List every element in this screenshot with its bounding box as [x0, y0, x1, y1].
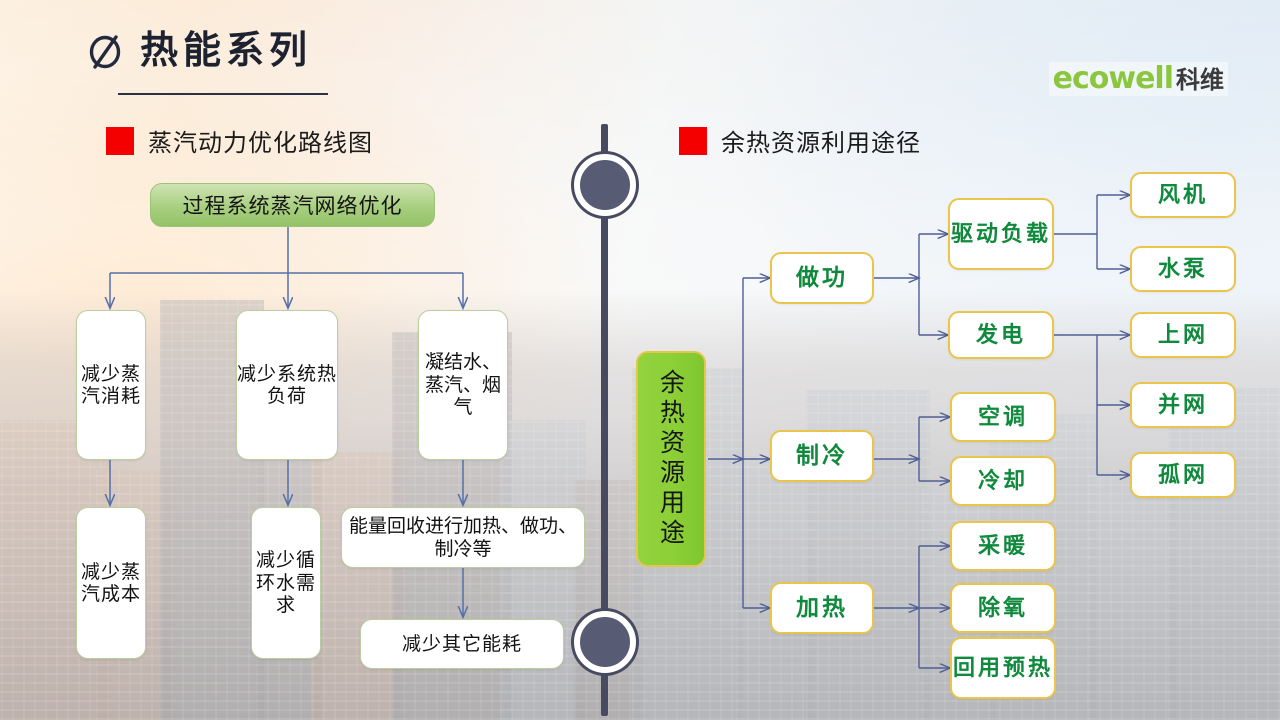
center-timeline-node-top — [574, 154, 636, 216]
center-highlight-box[interactable]: 余热资源用途 — [636, 351, 706, 567]
page-title-group: 热能系列 — [86, 28, 312, 72]
right-flow-l2-box-cooling[interactable]: 冷却 — [950, 456, 1056, 506]
left-flow-tier2-box-2[interactable]: 减少系统热负荷 — [236, 310, 338, 460]
right-flow-l3-label-island-grid: 孤网 — [1158, 463, 1208, 488]
right-flow-l2-label-reuse-preheat: 回用预热 — [953, 656, 1053, 681]
right-flow-l2-box-power-gen[interactable]: 发电 — [948, 311, 1054, 359]
right-flow-l3-box-grid-tie[interactable]: 并网 — [1130, 382, 1236, 428]
right-flow-l3-label-pump: 水泵 — [1158, 257, 1208, 282]
red-square-bullet-icon — [679, 127, 707, 155]
section-heading-right-label: 余热资源利用途径 — [721, 123, 921, 158]
left-flow-tier4-box[interactable]: 减少其它能耗 — [360, 619, 564, 669]
right-flow-l2-box-drive-load[interactable]: 驱动负载 — [948, 198, 1054, 270]
right-flow-l3-label-grid-export: 上网 — [1158, 323, 1208, 348]
left-flow-tier2-label-3: 凝结水、蒸汽、烟气 — [419, 351, 507, 418]
left-flow-tier2-label-2: 减少系统热负荷 — [237, 363, 337, 408]
red-square-bullet-icon — [106, 127, 134, 155]
left-flow-tier3-box-1[interactable]: 减少蒸汽成本 — [76, 507, 146, 659]
left-flow-tier4-label: 减少其它能耗 — [402, 633, 522, 655]
right-flow-l2-box-ac[interactable]: 空调 — [950, 392, 1056, 442]
right-flow-l2-box-deaeration[interactable]: 除氧 — [950, 583, 1056, 633]
left-flow-tier2-box-3[interactable]: 凝结水、蒸汽、烟气 — [418, 310, 508, 460]
section-heading-right: 余热资源利用途径 — [679, 123, 921, 158]
null-circle-slash-icon — [86, 28, 126, 72]
slide-canvas: 热能系列 ecowell 科维 蒸汽动力优化路线图 余热资源利用途径 — [0, 0, 1280, 720]
left-flow-tier3-box-2[interactable]: 减少循环水需求 — [251, 507, 321, 659]
logo-wordmark: ecowell — [1053, 64, 1173, 94]
left-flow-tier3-label-2: 减少循环水需求 — [252, 549, 320, 616]
right-flow-l2-label-cooling: 冷却 — [978, 469, 1028, 494]
right-flow-l3-box-grid-export[interactable]: 上网 — [1130, 312, 1236, 358]
center-timeline-node-bottom — [574, 611, 636, 673]
section-heading-left: 蒸汽动力优化路线图 — [106, 123, 373, 158]
right-flow-l2-box-reuse-preheat[interactable]: 回用预热 — [950, 637, 1056, 699]
left-flow-root-box[interactable]: 过程系统蒸汽网络优化 — [150, 183, 435, 227]
left-flow-tier3-label-3: 能量回收进行加热、做功、制冷等 — [342, 515, 584, 560]
left-flow-tier3-box-3[interactable]: 能量回收进行加热、做功、制冷等 — [341, 507, 585, 568]
right-flow-l3-label-fan: 风机 — [1158, 183, 1208, 208]
right-flow-l3-box-island-grid[interactable]: 孤网 — [1130, 452, 1236, 498]
right-flow-l2-label-heating: 采暖 — [978, 534, 1028, 559]
right-flow-l2-box-heating[interactable]: 采暖 — [950, 521, 1056, 571]
right-flow-l1-label-1: 做功 — [796, 265, 848, 291]
right-flow-l1-label-2: 制冷 — [796, 443, 848, 469]
right-flow-l2-label-power-gen: 发电 — [976, 323, 1026, 348]
left-flow-root-label: 过程系统蒸汽网络优化 — [183, 190, 403, 220]
left-flow-tier3-label-1: 减少蒸汽成本 — [77, 561, 145, 606]
left-flow-tier2-box-1[interactable]: 减少蒸汽消耗 — [76, 310, 146, 460]
left-flow-tier2-label-1: 减少蒸汽消耗 — [77, 363, 145, 408]
right-flow-l1-box-2[interactable]: 制冷 — [770, 430, 874, 482]
logo-chinese-name: 科维 — [1176, 68, 1224, 92]
right-flow-l3-box-fan[interactable]: 风机 — [1130, 172, 1236, 218]
right-flow-l2-label-deaeration: 除氧 — [978, 596, 1028, 621]
right-flow-l2-label-drive-load: 驱动负载 — [951, 222, 1051, 247]
right-flow-l2-label-ac: 空调 — [978, 405, 1028, 430]
page-title: 热能系列 — [140, 31, 312, 69]
section-heading-left-label: 蒸汽动力优化路线图 — [148, 123, 373, 158]
center-highlight-label: 余热资源用途 — [659, 369, 684, 549]
title-underline — [118, 93, 328, 95]
brand-logo: ecowell 科维 — [1049, 62, 1228, 96]
right-flow-l3-label-grid-tie: 并网 — [1158, 393, 1208, 418]
right-flow-l3-box-pump[interactable]: 水泵 — [1130, 246, 1236, 292]
right-flow-l1-label-3: 加热 — [796, 595, 848, 621]
right-flow-l1-box-3[interactable]: 加热 — [770, 582, 874, 634]
right-flow-l1-box-1[interactable]: 做功 — [770, 252, 874, 304]
